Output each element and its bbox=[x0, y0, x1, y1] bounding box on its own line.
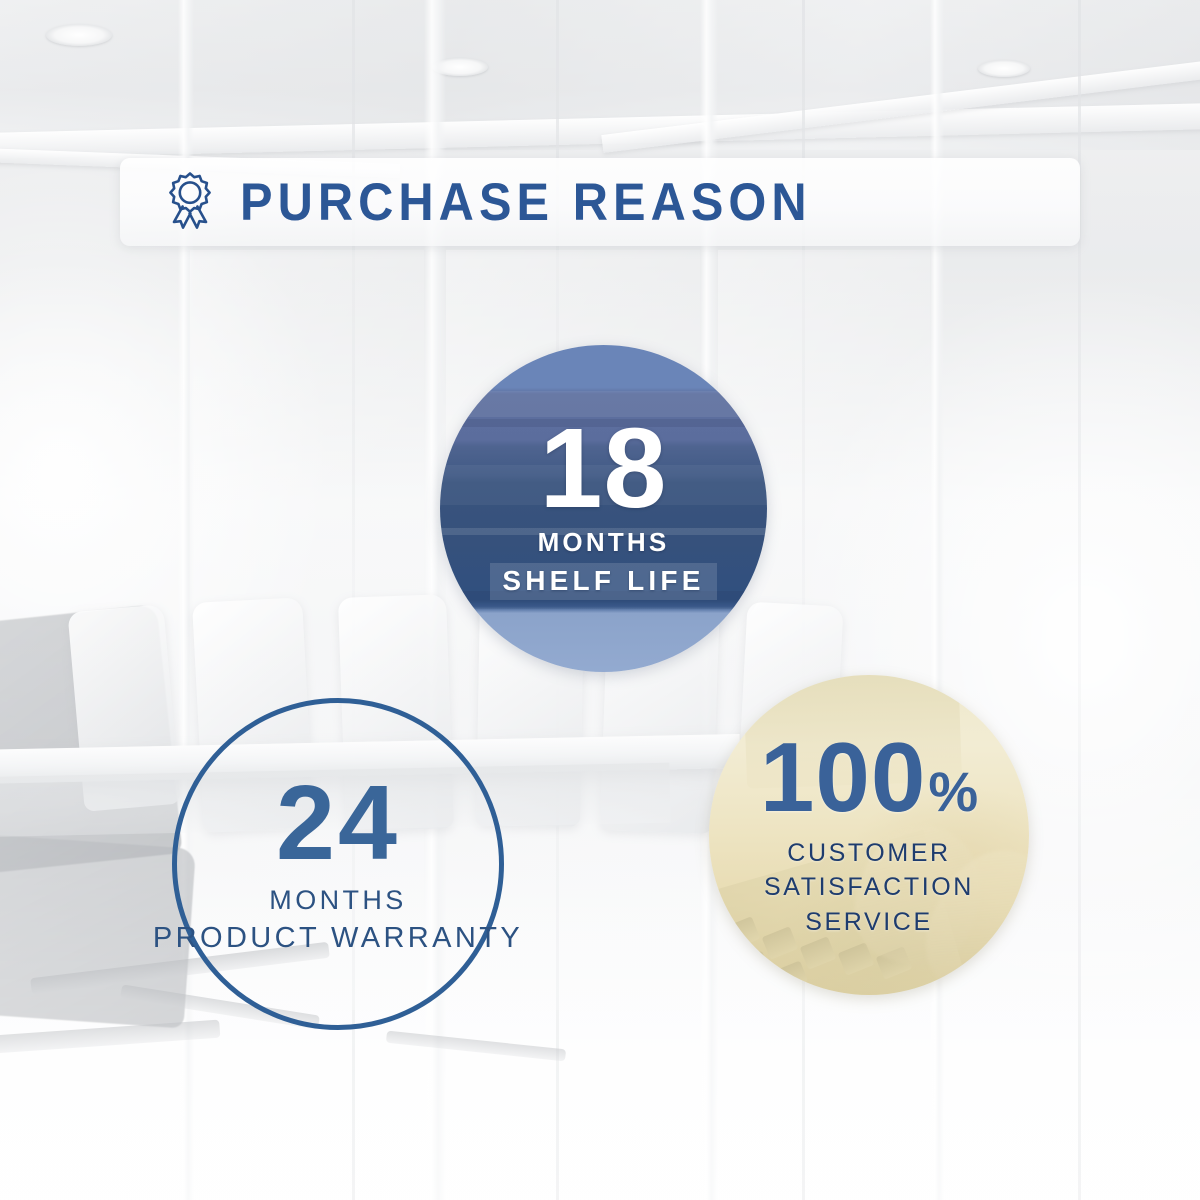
badge-value-group: 100 % bbox=[760, 731, 978, 824]
badge-label: SHELF LIFE bbox=[490, 563, 716, 600]
badge-value: 100 bbox=[760, 731, 927, 824]
badge-unit: MONTHS bbox=[269, 885, 406, 916]
badge-label-group: CUSTOMER SATISFACTION SERVICE bbox=[764, 836, 974, 940]
infographic-canvas: PURCHASE REASON 18 MONTHS SHELF LIFE 24 … bbox=[0, 0, 1200, 1200]
badge-product-warranty: 24 MONTHS PRODUCT WARRANTY bbox=[172, 698, 504, 1030]
badge-customer-satisfaction: 100 % CUSTOMER SATISFACTION SERVICE bbox=[709, 675, 1029, 995]
badge-label-line-1: CUSTOMER bbox=[764, 836, 974, 871]
badge-label: PRODUCT WARRANTY bbox=[153, 922, 523, 955]
badge-shelf-life: 18 MONTHS SHELF LIFE bbox=[440, 345, 767, 672]
badge-value-suffix: % bbox=[928, 765, 978, 818]
award-ribbon-icon bbox=[162, 170, 218, 234]
header-banner: PURCHASE REASON bbox=[120, 158, 1080, 246]
badge-unit: MONTHS bbox=[538, 527, 670, 558]
badge-label-line-3: SERVICE bbox=[764, 905, 974, 940]
page-title: PURCHASE REASON bbox=[240, 172, 812, 233]
badge-label-line-2: SATISFACTION bbox=[764, 870, 974, 905]
badge-value: 18 bbox=[540, 417, 668, 521]
badge-value: 24 bbox=[276, 773, 400, 874]
